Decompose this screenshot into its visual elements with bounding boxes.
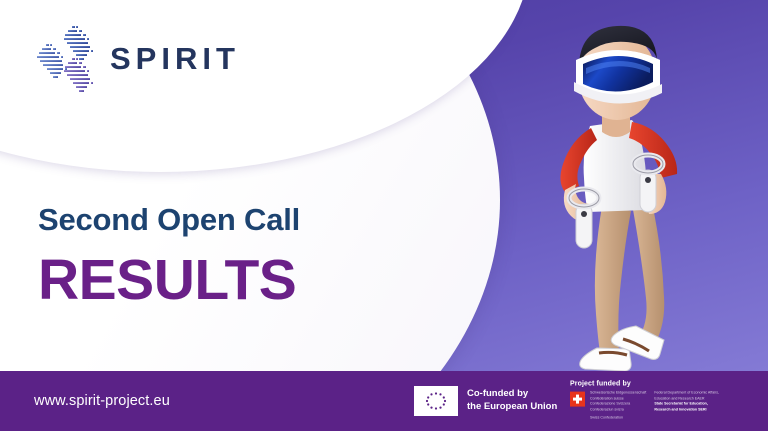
dept-line-2: Education and Research EAER	[654, 396, 704, 400]
swiss-name-it: Confederazione Svizzera	[590, 402, 630, 406]
eu-funding-block: Co-funded by the European Union	[414, 386, 557, 416]
eu-funding-text: Co-funded by the European Union	[467, 388, 557, 414]
eu-funding-line-1: Co-funded by	[467, 388, 528, 399]
headline-line-2: RESULTS	[38, 252, 300, 309]
spirit-logo[interactable]: SPIRIT	[34, 22, 240, 94]
dept-line-4: Research and Innovation SERI	[654, 407, 706, 411]
headline-line-1: Second Open Call	[38, 203, 300, 237]
swiss-name-en: Swiss Confederation	[590, 416, 623, 420]
dept-line-1: Federal Department of Economic Affairs,	[654, 391, 719, 395]
vr-character-illustration	[528, 8, 758, 373]
spirit-pixel-heads-logo-icon	[34, 22, 100, 94]
swiss-flag-icon	[570, 392, 585, 407]
spirit-wordmark: SPIRIT	[110, 43, 240, 74]
dept-line-3: State Secretariat for Education,	[654, 402, 708, 406]
eu-funding-line-2: the European Union	[467, 401, 557, 412]
swiss-department-text: Federal Department of Economic Affairs, …	[654, 391, 719, 413]
swiss-name-rm: Confederaziun svizra	[590, 407, 624, 411]
footer-bar: www.spirit-project.eu Co-funded by the	[0, 371, 768, 431]
swiss-confederation-names: Schweizerische Eidgenossenschaft Confédé…	[590, 391, 646, 422]
swiss-funding-block: Project funded by Schweizerische Eidgeno…	[570, 381, 719, 422]
slide-canvas: SPIRIT Second Open Call RESULTS	[0, 0, 768, 431]
website-link[interactable]: www.spirit-project.eu	[34, 393, 170, 409]
swiss-name-fr: Confédération suisse	[590, 396, 624, 400]
headline-block: Second Open Call RESULTS	[38, 203, 300, 309]
eu-flag-icon	[414, 386, 458, 416]
swiss-name-de: Schweizerische Eidgenossenschaft	[590, 391, 646, 395]
swiss-funding-title: Project funded by	[570, 381, 719, 388]
